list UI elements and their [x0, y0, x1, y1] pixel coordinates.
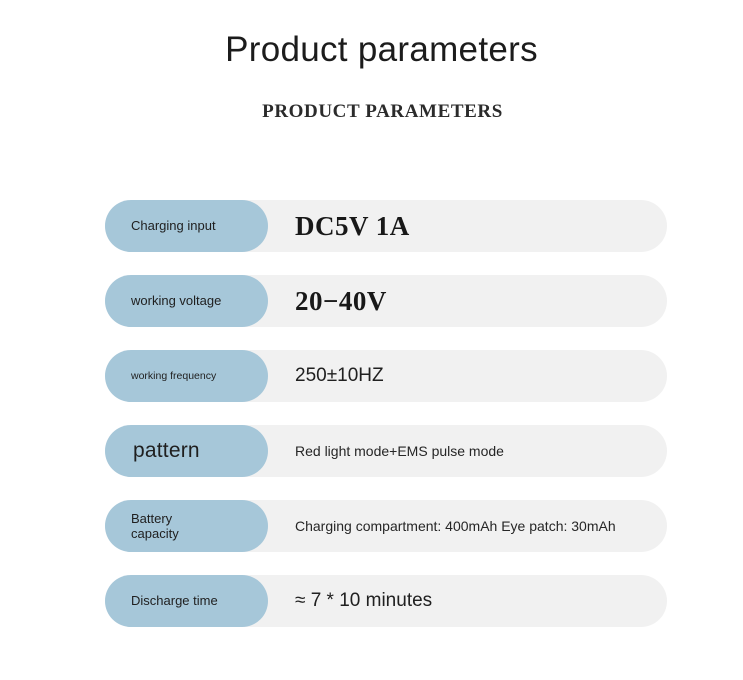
spec-label-text: working frequency: [131, 370, 216, 383]
specification-list: Charging input DC5V 1A working voltage 2…: [105, 200, 667, 627]
page-subtitle: PRODUCT PARAMETERS: [0, 72, 743, 123]
spec-value-pattern: Red light mode+EMS pulse mode: [295, 425, 504, 477]
spec-label-pill-charging-input: Charging input: [105, 200, 268, 252]
spec-label-pill-working-voltage: working voltage: [105, 275, 268, 327]
spec-value-discharge-time: ≈ 7 * 10 minutes: [295, 575, 432, 627]
spec-row-charging-input: Charging input DC5V 1A: [105, 200, 667, 252]
spec-label-text: Charging input: [131, 218, 216, 234]
spec-value-working-frequency: 250±10HZ: [295, 350, 384, 402]
spec-label-pill-discharge-time: Discharge time: [105, 575, 268, 627]
spec-label-text: working voltage: [131, 293, 221, 309]
spec-value-charging-input: DC5V 1A: [295, 200, 410, 252]
spec-label-text: pattern: [133, 438, 200, 464]
spec-value-battery-capacity: Charging compartment: 400mAh Eye patch: …: [295, 500, 616, 552]
spec-row-battery-capacity: Battery capacity Charging compartment: 4…: [105, 500, 667, 552]
spec-row-discharge-time: Discharge time ≈ 7 * 10 minutes: [105, 575, 667, 627]
spec-row-pattern: pattern Red light mode+EMS pulse mode: [105, 425, 667, 477]
spec-value-working-voltage: 20−40V: [295, 275, 387, 327]
spec-row-working-voltage: working voltage 20−40V: [105, 275, 667, 327]
page-header: Product parameters PRODUCT PARAMETERS: [0, 0, 743, 123]
spec-label-pill-working-frequency: working frequency: [105, 350, 268, 402]
spec-label-pill-pattern: pattern: [105, 425, 268, 477]
spec-label-pill-battery-capacity: Battery capacity: [105, 500, 268, 552]
product-parameters-page: { "header": { "main_title": "Product par…: [0, 0, 743, 680]
page-title: Product parameters: [0, 0, 743, 72]
spec-label-text: Battery capacity: [131, 511, 179, 542]
spec-label-text: Discharge time: [131, 593, 218, 609]
spec-row-working-frequency: working frequency 250±10HZ: [105, 350, 667, 402]
